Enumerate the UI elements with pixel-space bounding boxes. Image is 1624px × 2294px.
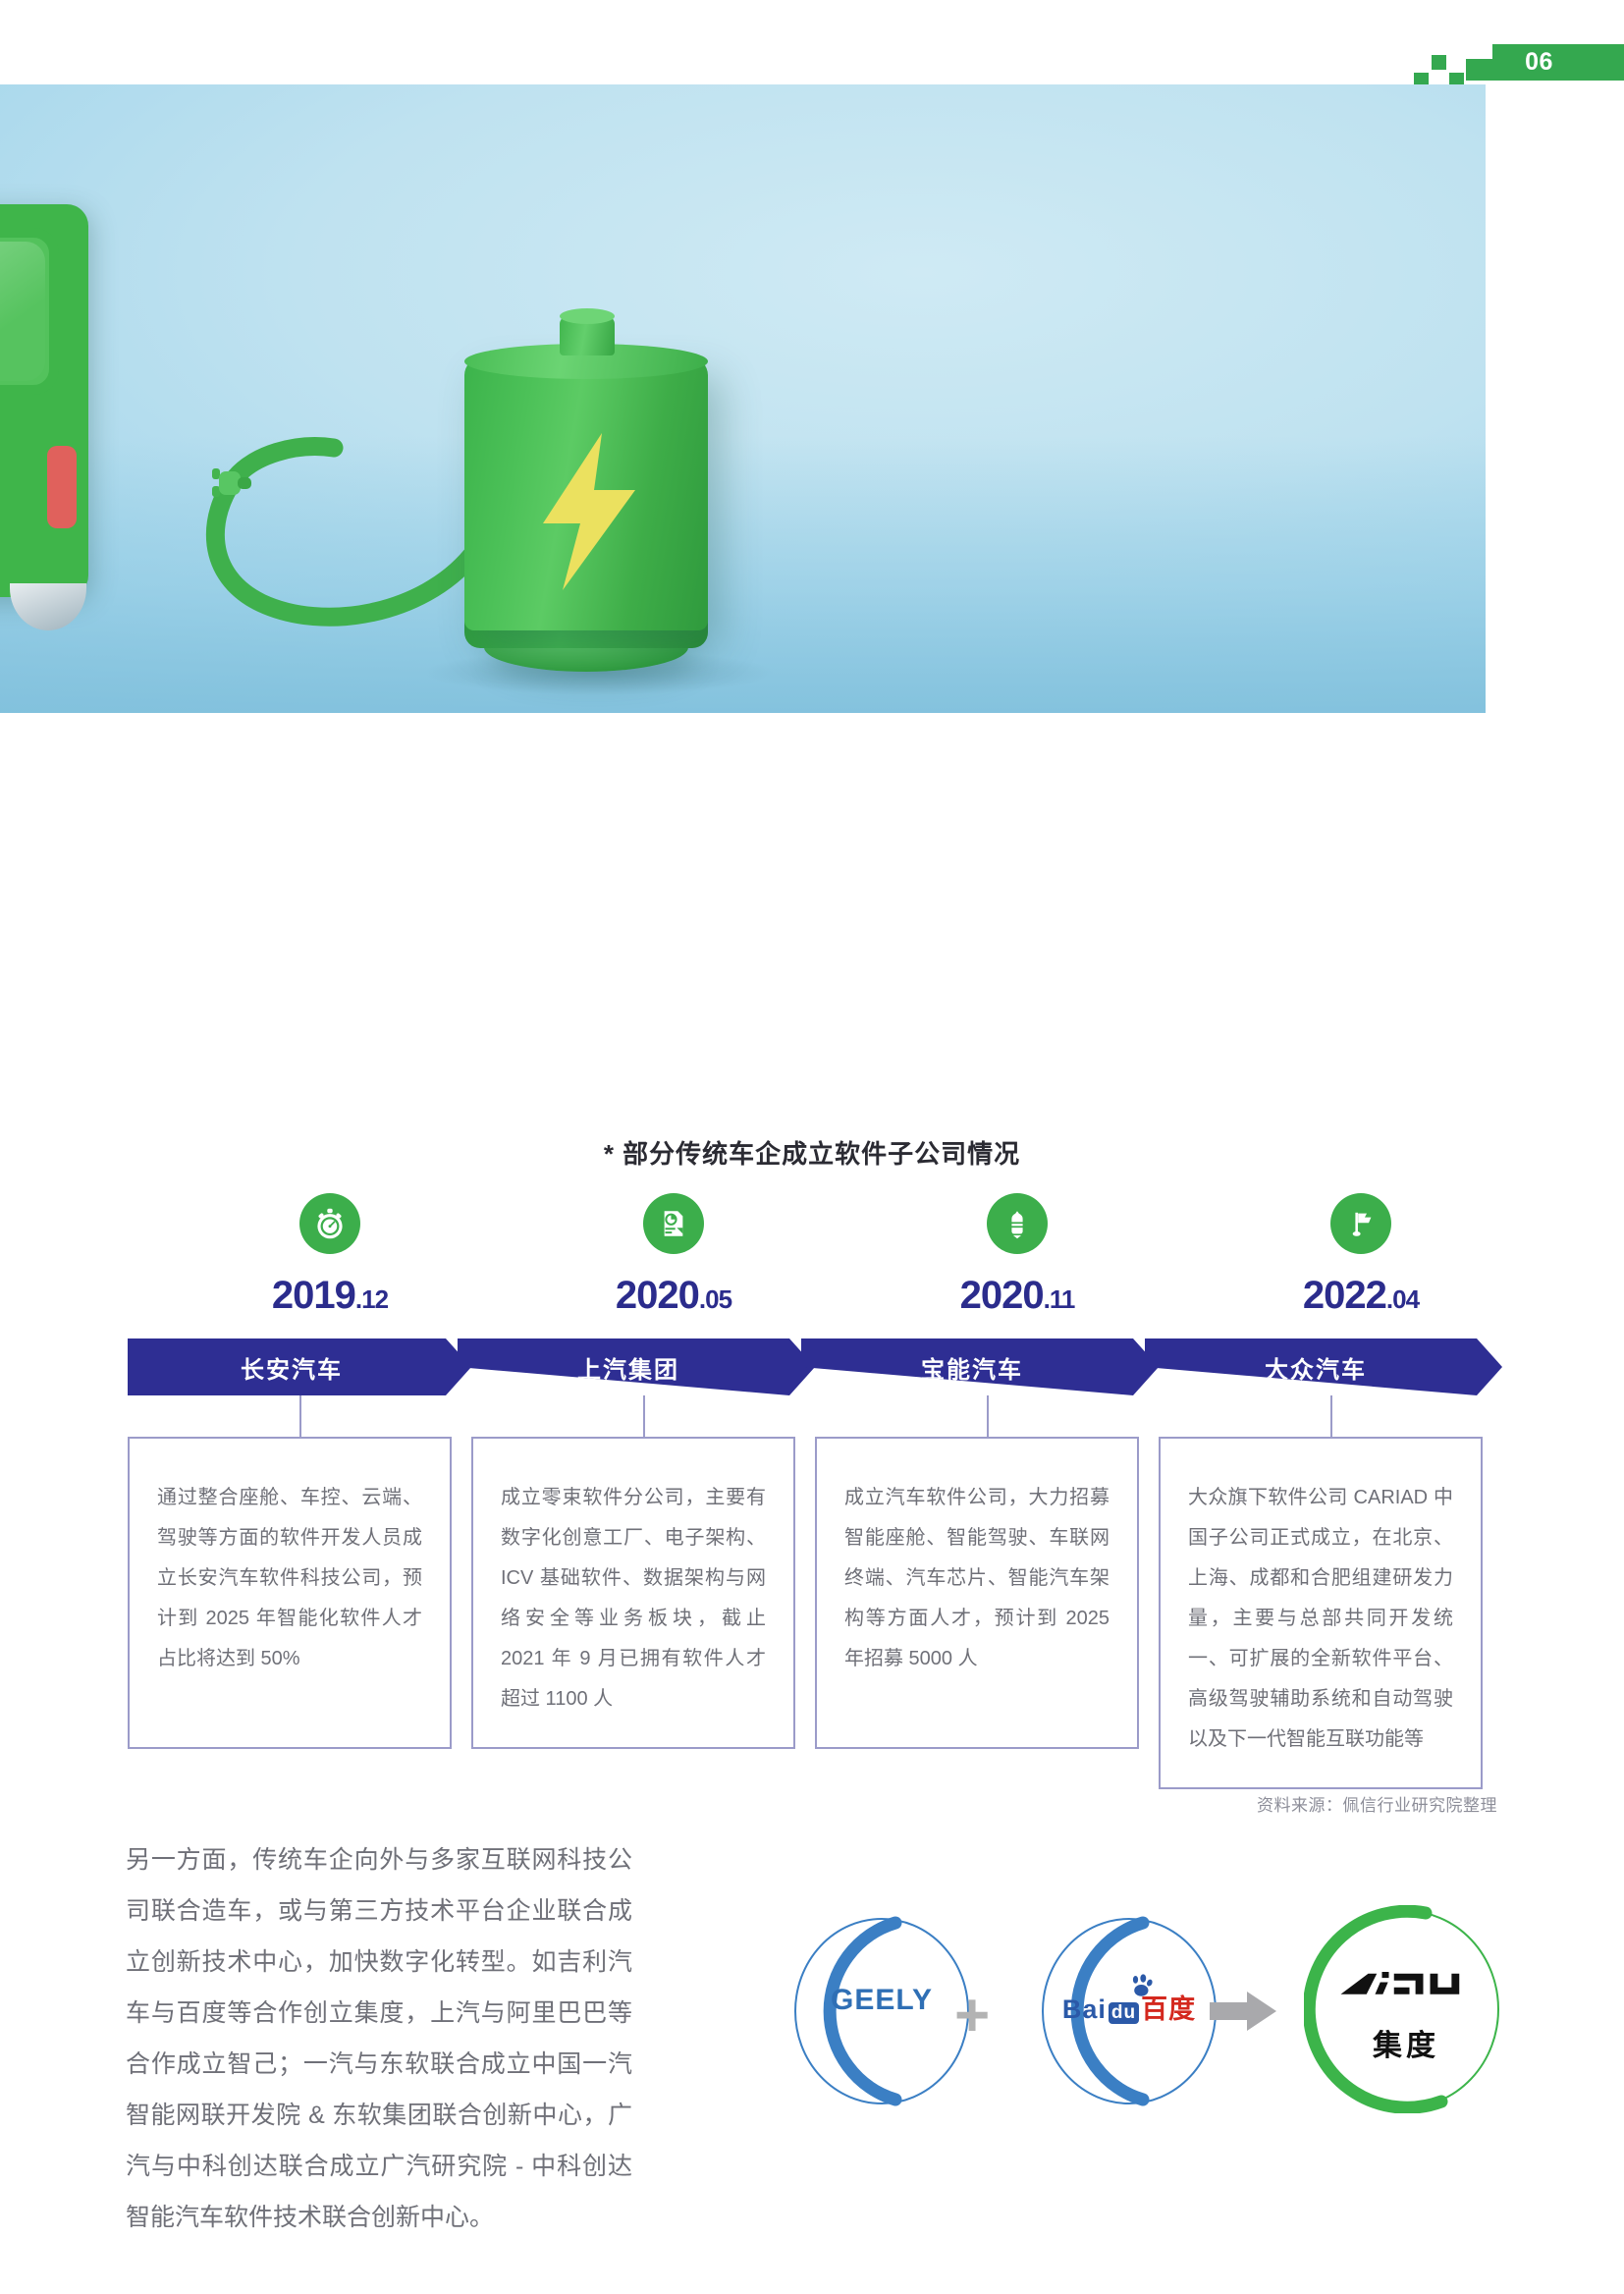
timeline-year-2: 2020 — [960, 1274, 1044, 1317]
geely-ring: GEELY — [785, 1913, 978, 2109]
timeline-month-2: .11 — [1044, 1284, 1075, 1314]
timeline-note-2: 成立汽车软件公司，大力招募智能座舱、智能驾驶、车联网终端、汽车芯片、智能汽车架构… — [815, 1437, 1139, 1749]
timeline-chart: 2019.12 2020.05 2020.11 2022.04 长安汽车 上汽集… — [128, 1193, 1502, 1822]
timeline-date-1: 2020.05 — [546, 1274, 801, 1318]
chevron-label-1: 上汽集团 — [577, 1350, 679, 1385]
note-text-3: 大众旗下软件公司 CARIAD 中国子公司正式成立，在北京、上海、成都和合肥组建… — [1188, 1478, 1453, 1760]
timeline-year-0: 2019 — [272, 1274, 355, 1317]
connector-line-3 — [1330, 1395, 1332, 1437]
battery-cap-top — [560, 308, 615, 324]
jidu-wordmark-icon — [1337, 1968, 1475, 2003]
baidu-paw-icon — [1129, 1974, 1155, 1999]
baidu-label-latin: Bai — [1062, 1994, 1107, 2024]
chevron-label-3: 大众汽车 — [1265, 1350, 1367, 1385]
battery-cell-icon — [987, 1193, 1048, 1254]
chevron-company-0[interactable]: 长安汽车 — [128, 1338, 471, 1395]
timeline-date-2: 2020.11 — [890, 1274, 1145, 1318]
jidu-ring-icon — [1304, 1905, 1508, 2113]
note-top-border-3 — [1161, 1437, 1481, 1439]
timeline-date-3: 2022.04 — [1233, 1274, 1489, 1318]
timeline-date-0: 2019.12 — [202, 1274, 458, 1318]
page-number-notch — [1466, 59, 1495, 81]
note-text-0: 通过整合座舱、车控、云端、驾驶等方面的软件开发人员成立长安汽车软件科技公司，预计… — [157, 1478, 422, 1679]
note-top-border-2 — [817, 1437, 1137, 1439]
stopwatch-icon — [299, 1193, 360, 1254]
note-top-border-1 — [473, 1437, 793, 1439]
note-bottom-border-3 — [1161, 1787, 1481, 1789]
connector-line-2 — [987, 1395, 989, 1437]
note-bottom-border-2 — [817, 1747, 1137, 1749]
chevron-company-1[interactable]: 上汽集团 — [458, 1338, 815, 1395]
chevron-company-2[interactable]: 宝能汽车 — [801, 1338, 1159, 1395]
partnership-diagram: GEELY + Baidu百度 — [766, 1895, 1512, 2121]
chevron-label-0: 长安汽车 — [241, 1350, 343, 1385]
chevron-company-3[interactable]: 大众汽车 — [1145, 1338, 1502, 1395]
timeline-month-0: .12 — [355, 1284, 388, 1314]
timeline-note-1: 成立零束软件分公司，主要有数字化创意工厂、电子架构、ICV 基础软件、数据架构与… — [471, 1437, 795, 1749]
timeline-note-0: 通过整合座舱、车控、云端、驾驶等方面的软件开发人员成立长安汽车软件科技公司，预计… — [128, 1437, 452, 1749]
lightning-bolt-icon — [525, 433, 653, 590]
connector-line-1 — [643, 1395, 645, 1437]
timeline-month-3: .04 — [1386, 1284, 1419, 1314]
page-number: 06 — [1492, 44, 1586, 81]
charging-cable-icon — [177, 409, 501, 644]
plus-icon: + — [954, 1986, 990, 2047]
note-top-border-0 — [130, 1437, 450, 1439]
geely-label: GEELY — [785, 1984, 978, 2017]
document-report-icon — [643, 1193, 704, 1254]
timeline-note-3: 大众旗下软件公司 CARIAD 中国子公司正式成立，在北京、上海、成都和合肥组建… — [1159, 1437, 1483, 1789]
note-text-1: 成立零束软件分公司，主要有数字化创意工厂、电子架构、ICV 基础软件、数据架构与… — [501, 1478, 766, 1720]
timeline-notes: 通过整合座舱、车控、云端、驾驶等方面的软件开发人员成立长安汽车软件科技公司，预计… — [128, 1437, 1502, 1790]
plug-icon — [210, 465, 253, 501]
timeline-year-1: 2020 — [616, 1274, 699, 1317]
jidu-ring: 集度 — [1304, 1905, 1508, 2113]
note-bottom-border-0 — [130, 1747, 450, 1749]
note-text-2: 成立汽车软件公司，大力招募智能座舱、智能驾驶、车联网终端、汽车芯片、智能汽车架构… — [844, 1478, 1110, 1679]
car-window-shape — [0, 228, 59, 395]
car-taillight-shape — [47, 446, 77, 528]
jidu-label-cn: 集度 — [1304, 2021, 1508, 2064]
timeline-month-1: .05 — [699, 1284, 731, 1314]
arrow-right-icon — [1210, 1990, 1276, 2033]
timeline-year-3: 2022 — [1303, 1274, 1386, 1317]
note-bottom-border-1 — [473, 1747, 793, 1749]
baidu-label-du: du — [1109, 2002, 1139, 2024]
timeline-chevron-row: 长安汽车 上汽集团 宝能汽车 大众汽车 — [128, 1338, 1502, 1395]
deco-square-2 — [1432, 55, 1446, 70]
flag-icon — [1330, 1193, 1391, 1254]
document-page: 06 * 部分传统车企成立软件子公司情况 — [0, 0, 1624, 2294]
body-paragraph: 另一方面，传统车企向外与多家互联网科技公司联合造车，或与第三方技术平台企业联合成… — [126, 1834, 632, 2243]
chevron-label-2: 宝能汽车 — [921, 1350, 1023, 1385]
chart-title: * 部分传统车企成立软件子公司情况 — [0, 1134, 1624, 1171]
chart-source: 资料来源：佩信行业研究院整理 — [0, 1791, 1497, 1816]
hero-illustration — [0, 84, 1486, 713]
connector-line-0 — [299, 1395, 301, 1437]
baidu-ring: Baidu百度 — [1033, 1913, 1225, 2109]
